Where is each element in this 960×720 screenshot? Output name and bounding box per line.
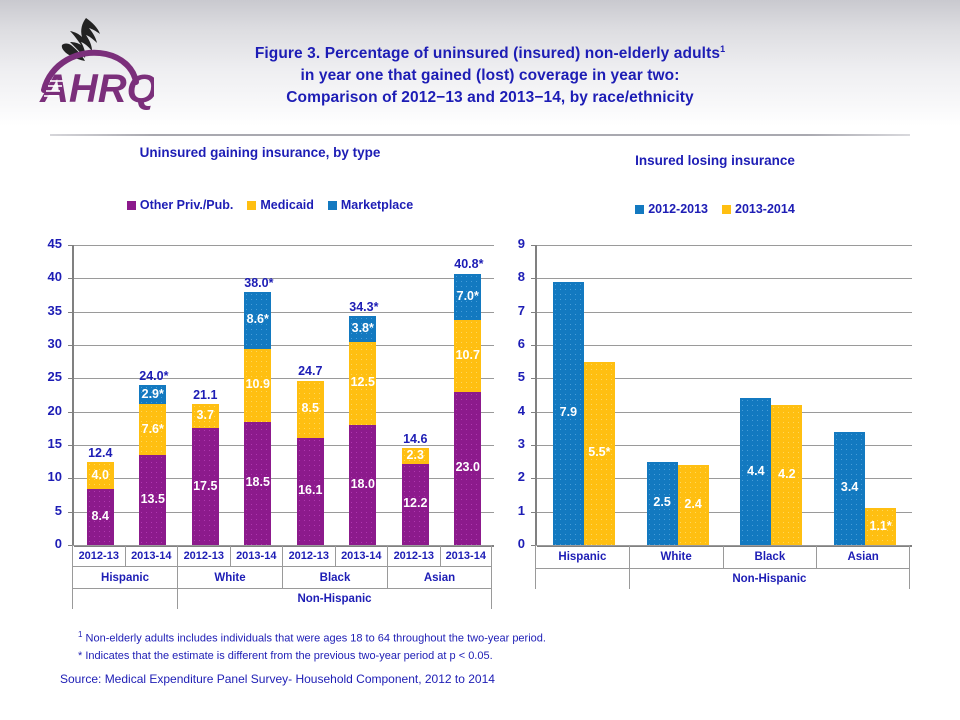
legend-swatch-icon <box>722 205 731 214</box>
left-bar-segment-label: 13.5 <box>139 492 166 506</box>
left-ytick-mark <box>68 445 74 446</box>
right-ytick-mark <box>531 378 537 379</box>
left-bar-segment-medicaid[interactable]: 10.7 <box>454 320 481 391</box>
left-gridline <box>74 378 494 379</box>
left-bar-total-label: 34.3* <box>349 300 376 314</box>
right-ytick-mark <box>531 445 537 446</box>
right-ytick-mark <box>531 345 537 346</box>
left-ytick-label: 30 <box>28 339 62 349</box>
right-chart-legend: 2012-20132013-2014 <box>505 202 925 216</box>
right-chart-plot-area: 01234567897.95.5*2.52.44.44.23.41.1* <box>535 245 910 545</box>
left-ytick-mark <box>68 278 74 279</box>
left-ytick-label: 40 <box>28 272 62 282</box>
left-category-supergroup-stub <box>72 589 177 609</box>
left-category-table-top-border <box>72 545 492 546</box>
left-gridline <box>74 478 494 479</box>
right-bar-value-label: 4.2 <box>771 467 802 481</box>
left-bar-total-label: 40.8* <box>454 257 481 271</box>
legend-swatch-icon <box>127 201 136 210</box>
right-category-cell: Asian <box>816 545 910 569</box>
right-bar-2012-2013[interactable]: 3.4 <box>834 432 865 545</box>
left-ytick-label: 35 <box>28 306 62 316</box>
left-category-year-cell: 2013-14 <box>125 545 178 567</box>
left-bar-segment-marketplace[interactable]: 8.6* <box>244 292 271 349</box>
left-bar-segment-medicaid[interactable]: 4.0 <box>87 462 114 489</box>
left-bar-segment-medicaid[interactable]: 8.5 <box>297 381 324 438</box>
left-gridline <box>74 345 494 346</box>
left-bar-segment-label: 12.5 <box>349 375 376 389</box>
legend-swatch-icon <box>328 201 337 210</box>
left-bar-segment-other-priv-pub[interactable]: 18.5 <box>244 422 271 545</box>
right-ytick-mark <box>531 412 537 413</box>
left-bar-total-label: 24.0* <box>139 369 166 383</box>
left-ytick-mark <box>68 345 74 346</box>
left-bar-total-label: 38.0* <box>244 276 271 290</box>
footnotes: 1 Non-elderly adults includes individual… <box>78 626 858 665</box>
left-ytick-label: 25 <box>28 372 62 382</box>
left-bar-segment-label: 7.0* <box>454 289 481 303</box>
left-legend-item-1[interactable]: Medicaid <box>247 198 314 212</box>
svg-text:AHRQ: AHRQ <box>39 67 154 111</box>
page-title-line-2: in year one that gained (lost) coverage … <box>300 67 679 84</box>
left-stacked-bar[interactable]: 16.18.524.7 <box>297 380 324 545</box>
left-bar-segment-label: 23.0 <box>454 460 481 474</box>
left-gridline <box>74 412 494 413</box>
right-legend-item-0[interactable]: 2012-2013 <box>635 202 708 216</box>
left-legend-label: Other Priv./Pub. <box>140 198 234 212</box>
left-stacked-bar[interactable]: 17.53.721.1 <box>192 404 219 545</box>
right-ytick-label: 2 <box>491 472 525 482</box>
left-ytick-label: 10 <box>28 472 62 482</box>
page-title-footnote-marker: 1 <box>720 44 725 54</box>
left-bar-segment-label: 7.6* <box>139 422 166 436</box>
right-ytick-label: 6 <box>491 339 525 349</box>
right-ytick-mark <box>531 278 537 279</box>
left-category-year-cell: 2013-14 <box>335 545 388 567</box>
right-chart-panel: Insured losing insurance 2012-20132013-2… <box>505 145 925 615</box>
left-ytick-mark <box>68 478 74 479</box>
right-category-table-top-border <box>535 545 910 546</box>
right-bar-2013-2014[interactable]: 5.5* <box>584 362 615 545</box>
left-bar-segment-other-priv-pub[interactable]: 17.5 <box>192 428 219 545</box>
left-stacked-bar[interactable]: 13.57.6*2.9*24.0* <box>139 385 166 545</box>
right-bar-value-label: 7.9 <box>553 405 584 419</box>
left-bar-segment-label: 8.6* <box>244 312 271 326</box>
right-legend-label: 2012-2013 <box>648 202 708 216</box>
left-ytick-mark <box>68 245 74 246</box>
left-category-year-cell: 2012-13 <box>387 545 440 567</box>
right-gridline <box>537 245 912 246</box>
left-gridline <box>74 512 494 513</box>
right-ytick-label: 0 <box>491 539 525 549</box>
left-bar-segment-medicaid[interactable]: 3.7 <box>192 404 219 429</box>
right-bar-2013-2014[interactable]: 2.4 <box>678 465 709 545</box>
left-bar-segment-other-priv-pub[interactable]: 23.0 <box>454 392 481 545</box>
right-category-supergroup-stub <box>535 569 629 589</box>
left-category-group-cell: Asian <box>387 567 492 589</box>
right-gridline <box>537 312 912 313</box>
left-bar-segment-marketplace[interactable]: 3.8* <box>349 316 376 341</box>
right-ytick-label: 4 <box>491 406 525 416</box>
right-ytick-label: 7 <box>491 306 525 316</box>
left-bar-segment-medicaid[interactable]: 10.9 <box>244 349 271 422</box>
left-legend-item-2[interactable]: Marketplace <box>328 198 413 212</box>
right-bar-value-label: 3.4 <box>834 480 865 494</box>
right-bar-2012-2013[interactable]: 7.9 <box>553 282 584 545</box>
left-bar-segment-label: 3.8* <box>349 321 376 335</box>
left-category-supergroup-cell: Non-Hispanic <box>177 589 492 609</box>
legend-swatch-icon <box>247 201 256 210</box>
left-ytick-label: 45 <box>28 239 62 249</box>
right-bar-2012-2013[interactable]: 2.5 <box>647 462 678 545</box>
right-category-cell: White <box>629 545 723 569</box>
right-chart-title: Insured losing insurance <box>515 153 915 168</box>
left-bar-segment-label: 2.9* <box>139 387 166 401</box>
left-ytick-mark <box>68 512 74 513</box>
right-bar-value-label: 5.5* <box>584 445 615 459</box>
left-ytick-mark <box>68 312 74 313</box>
left-bar-segment-other-priv-pub[interactable]: 16.1 <box>297 438 324 545</box>
left-gridline <box>74 245 494 246</box>
left-chart-category-table: 2012-132013-142012-132013-142012-132013-… <box>72 545 492 609</box>
right-ytick-label: 8 <box>491 272 525 282</box>
left-chart-legend: Other Priv./Pub.MedicaidMarketplace <box>40 198 500 212</box>
right-ytick-mark <box>531 245 537 246</box>
left-category-year-cell: 2013-14 <box>230 545 283 567</box>
right-ytick-label: 1 <box>491 506 525 516</box>
right-bar-value-label: 1.1* <box>865 519 896 533</box>
legend-swatch-icon <box>635 205 644 214</box>
left-ytick-mark <box>68 412 74 413</box>
left-bar-segment-label: 8.5 <box>297 401 324 415</box>
right-legend-item-1[interactable]: 2013-2014 <box>722 202 795 216</box>
left-stacked-bar[interactable]: 18.510.98.6*38.0* <box>244 292 271 545</box>
header-divider <box>50 134 910 136</box>
left-bar-segment-other-priv-pub[interactable]: 12.2 <box>402 464 429 545</box>
left-ytick-label: 20 <box>28 406 62 416</box>
page-title-line-3: Comparison of 2012−13 and 2013−14, by ra… <box>286 89 694 106</box>
right-ytick-mark <box>531 512 537 513</box>
left-bar-segment-other-priv-pub[interactable]: 18.0 <box>349 425 376 545</box>
right-ytick-mark <box>531 478 537 479</box>
right-legend-label: 2013-2014 <box>735 202 795 216</box>
left-bar-segment-label: 18.5 <box>244 475 271 489</box>
left-ytick-label: 15 <box>28 439 62 449</box>
left-ytick-label: 0 <box>28 539 62 549</box>
left-category-year-cell: 2012-13 <box>72 545 125 567</box>
left-bar-total-label: 14.6 <box>402 432 429 446</box>
right-gridline <box>537 345 912 346</box>
right-chart-category-table: HispanicWhiteBlackAsianNon-Hispanic <box>535 545 910 591</box>
page-title-line-1: Figure 3. Percentage of uninsured (insur… <box>255 45 720 62</box>
left-bar-segment-marketplace[interactable]: 2.9* <box>139 385 166 404</box>
right-bar-value-label: 2.5 <box>647 495 678 509</box>
left-legend-item-0[interactable]: Other Priv./Pub. <box>127 198 234 212</box>
left-bar-total-label: 12.4 <box>87 446 114 460</box>
left-chart-panel: Uninsured gaining insurance, by type Oth… <box>40 145 500 615</box>
ahrq-logo: AHRQ <box>34 12 154 112</box>
right-bar-value-label: 4.4 <box>740 464 771 478</box>
left-bar-segment-marketplace[interactable]: 7.0* <box>454 274 481 321</box>
left-bar-segment-medicaid[interactable]: 2.3 <box>402 448 429 463</box>
left-stacked-bar[interactable]: 8.44.012.4 <box>87 462 114 545</box>
left-bar-segment-label: 3.7 <box>192 408 219 422</box>
left-chart-plot-area: 0510152025303540458.44.012.413.57.6*2.9*… <box>72 245 492 545</box>
left-bar-segment-label: 18.0 <box>349 477 376 491</box>
right-ytick-mark <box>531 312 537 313</box>
right-ytick-label: 5 <box>491 372 525 382</box>
right-bar-2013-2014[interactable]: 1.1* <box>865 508 896 545</box>
source-line: Source: Medical Expenditure Panel Survey… <box>60 672 495 686</box>
footnote-1-row: 1 Non-elderly adults includes individual… <box>78 626 858 648</box>
right-ytick-label: 3 <box>491 439 525 449</box>
left-ytick-mark <box>68 378 74 379</box>
left-bar-segment-other-priv-pub[interactable]: 13.5 <box>139 455 166 545</box>
right-ytick-label: 9 <box>491 239 525 249</box>
footnote-1-text: Non-elderly adults includes individuals … <box>82 633 546 645</box>
left-bar-total-label: 24.7 <box>297 364 324 378</box>
left-ytick-label: 5 <box>28 506 62 516</box>
left-bar-segment-label: 16.1 <box>297 483 324 497</box>
right-category-cell: Black <box>723 545 817 569</box>
left-bar-segment-medicaid[interactable]: 7.6* <box>139 404 166 455</box>
left-bar-segment-medicaid[interactable]: 12.5 <box>349 342 376 425</box>
left-stacked-bar[interactable]: 23.010.77.0*40.8* <box>454 273 481 545</box>
left-category-year-cell: 2013-14 <box>440 545 493 567</box>
footnote-2-text: * Indicates that the estimate is differe… <box>78 648 858 665</box>
right-category-supergroup-cell: Non-Hispanic <box>629 569 910 589</box>
right-bar-2012-2013[interactable]: 4.4 <box>740 398 771 545</box>
left-bar-segment-label: 2.3 <box>402 448 429 462</box>
left-bar-segment-label: 10.9 <box>244 377 271 391</box>
left-bar-segment-other-priv-pub[interactable]: 8.4 <box>87 489 114 545</box>
left-bar-segment-label: 8.4 <box>87 509 114 523</box>
left-category-year-cell: 2012-13 <box>282 545 335 567</box>
left-category-year-cell: 2012-13 <box>177 545 230 567</box>
page-title: Figure 3. Percentage of uninsured (insur… <box>180 38 800 109</box>
left-stacked-bar[interactable]: 18.012.53.8*34.3* <box>349 316 376 545</box>
right-gridline <box>537 278 912 279</box>
left-bar-total-label: 21.1 <box>192 388 219 402</box>
left-category-group-cell: Black <box>282 567 387 589</box>
left-legend-label: Marketplace <box>341 198 413 212</box>
left-gridline <box>74 312 494 313</box>
left-legend-label: Medicaid <box>260 198 314 212</box>
left-bar-segment-label: 17.5 <box>192 479 219 493</box>
right-bar-2013-2014[interactable]: 4.2 <box>771 405 802 545</box>
left-stacked-bar[interactable]: 12.22.314.6 <box>402 448 429 545</box>
ahrq-logo-graphic: AHRQ <box>34 12 154 112</box>
left-bar-segment-label: 4.0 <box>87 468 114 482</box>
left-bar-segment-label: 12.2 <box>402 496 429 510</box>
left-category-group-cell: Hispanic <box>72 567 177 589</box>
right-bar-value-label: 2.4 <box>678 497 709 511</box>
right-category-cell: Hispanic <box>535 545 629 569</box>
left-bar-segment-label: 10.7 <box>454 348 481 362</box>
left-gridline <box>74 445 494 446</box>
left-chart-title: Uninsured gaining insurance, by type <box>60 145 460 160</box>
left-gridline <box>74 278 494 279</box>
left-category-group-cell: White <box>177 567 282 589</box>
